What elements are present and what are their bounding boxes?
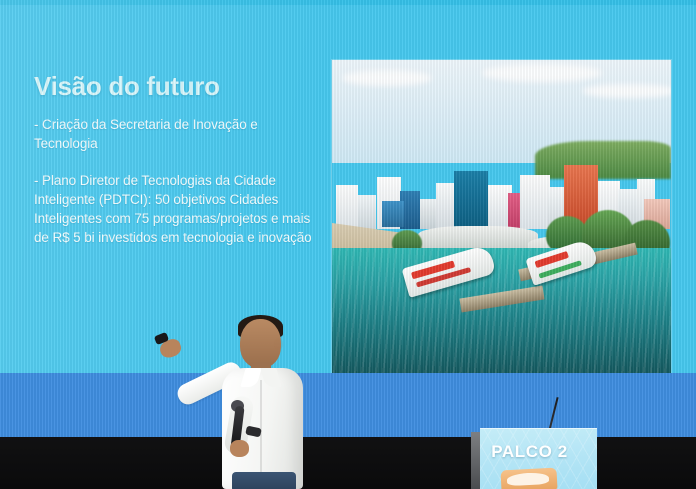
speaker-ear xyxy=(274,338,283,350)
slide-photo-waterfront-city xyxy=(332,60,671,373)
photo-cloud xyxy=(582,84,671,98)
speaker-presenter xyxy=(150,300,355,489)
slide-bullet-2: - Plano Diretor de Tecnologias da Cidade… xyxy=(34,171,324,248)
photo-building-glass-tower xyxy=(454,171,488,229)
photo-building xyxy=(420,199,436,229)
photo-cloud xyxy=(342,70,432,86)
photo-water xyxy=(332,248,671,373)
podium-logo-icon xyxy=(500,468,557,489)
photo-cloud xyxy=(482,64,602,82)
photo-building xyxy=(336,185,358,229)
photo-building-mural xyxy=(382,201,404,227)
slide-text-block: Visão do futuro - Criação da Secretaria … xyxy=(34,72,324,248)
slide-title: Visão do futuro xyxy=(34,72,324,101)
photo-building xyxy=(358,195,376,229)
stage-podium: PALCO 2 xyxy=(471,428,597,489)
slide-bullet-1: - Criação da Secretaria de Inovação e Te… xyxy=(34,115,324,153)
speaker-mic-hand xyxy=(230,440,249,457)
photo-building xyxy=(436,183,456,229)
photo-terminal-roof xyxy=(418,226,538,248)
podium-label: PALCO 2 xyxy=(471,442,588,462)
photo-building xyxy=(520,175,550,229)
slide-top-edge xyxy=(0,0,696,5)
conference-stage-scene: Visão do futuro - Criação da Secretaria … xyxy=(0,0,696,489)
speaker-pants xyxy=(232,472,296,489)
